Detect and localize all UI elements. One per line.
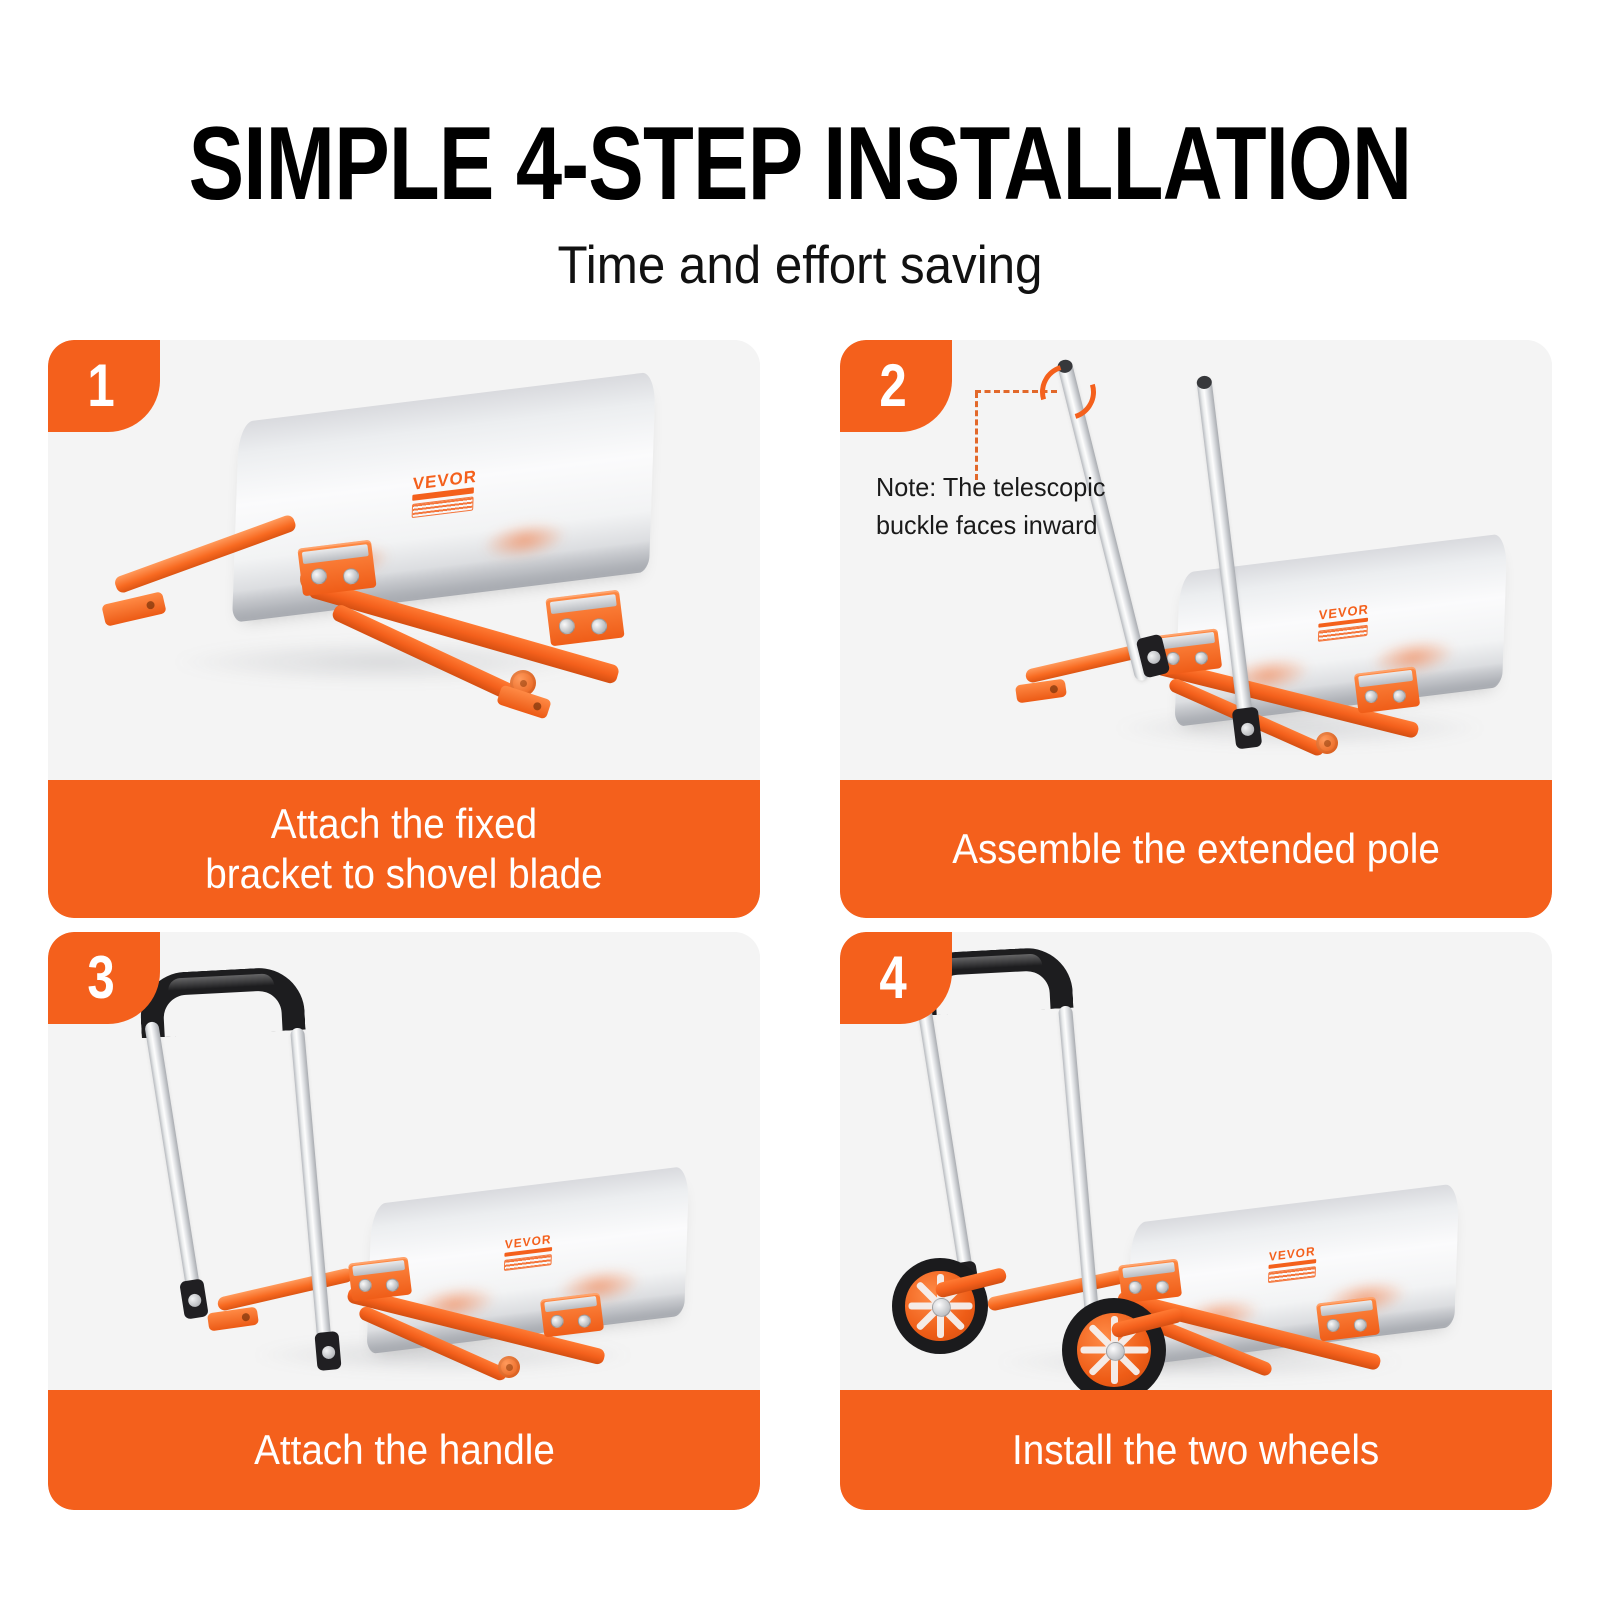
shovel-blade: VEVOR bbox=[232, 371, 656, 621]
clamp-bolt bbox=[577, 1314, 591, 1328]
bracket-clamp-right bbox=[1316, 1296, 1380, 1341]
bracket-clamp-right bbox=[1354, 666, 1420, 713]
bracket-clamp-right bbox=[540, 1292, 604, 1337]
step-badge-1: 1 bbox=[48, 340, 160, 432]
pole-joint-right bbox=[1232, 707, 1263, 750]
step-4-illustration: VEVOR bbox=[840, 932, 1552, 1390]
pole-joint-right bbox=[314, 1331, 341, 1371]
wheel-left bbox=[892, 1258, 988, 1354]
bracket-left-foot bbox=[207, 1307, 259, 1332]
bracket-left-arm bbox=[216, 1267, 354, 1312]
vevor-logo: VEVOR bbox=[1318, 602, 1369, 641]
clamp-bolt bbox=[1353, 1318, 1367, 1332]
caption-line-1: Attach the fixed bbox=[205, 799, 602, 849]
step-2-illustration: VEVOR bbox=[840, 340, 1552, 780]
step-number: 4 bbox=[850, 948, 937, 1008]
wheel-hub bbox=[1106, 1342, 1125, 1361]
step-1-caption: Attach the fixed bracket to shovel blade bbox=[48, 780, 760, 918]
bracket-clamp-left bbox=[1118, 1258, 1182, 1303]
step-badge-2: 2 bbox=[840, 340, 952, 432]
installation-infographic: SIMPLE 4-STEP INSTALLATION Time and effo… bbox=[0, 0, 1600, 1600]
clamp-plate bbox=[352, 1260, 406, 1276]
pole-end-cap bbox=[1196, 375, 1212, 390]
blade-with-poles-art: VEVOR bbox=[840, 340, 1552, 780]
clamp-bolt bbox=[590, 617, 608, 635]
bracket-lower-pivot bbox=[1316, 732, 1338, 754]
step-badge-4: 4 bbox=[840, 932, 952, 1024]
clamp-bolt bbox=[358, 1278, 372, 1292]
shovel-blade-with-bracket-art: VEVOR bbox=[48, 340, 760, 780]
clamp-plate bbox=[1320, 1300, 1374, 1316]
clamp-bolt bbox=[310, 567, 328, 585]
page-title: SIMPLE 4-STEP INSTALLATION bbox=[160, 112, 1440, 216]
step-3-illustration: VEVOR bbox=[48, 932, 760, 1390]
shovel-blade: VEVOR bbox=[367, 1166, 690, 1353]
page-subtitle: Time and effort saving bbox=[56, 238, 1544, 294]
vevor-logo: VEVOR bbox=[1268, 1245, 1317, 1283]
step-1-illustration: VEVOR bbox=[48, 340, 760, 780]
step-card-1: VEVOR bbox=[48, 340, 760, 918]
caption-line-2: bracket to shovel blade bbox=[205, 849, 602, 899]
bracket-clamp-left bbox=[348, 1256, 412, 1301]
bracket-clamp-left bbox=[297, 540, 376, 597]
handle-grip bbox=[138, 966, 305, 1038]
shovel-with-handle-art: VEVOR bbox=[48, 932, 760, 1390]
bracket-left-foot bbox=[101, 591, 166, 626]
handle-pole-left bbox=[916, 999, 976, 1294]
step-card-3: VEVOR bbox=[48, 932, 760, 1510]
step-number: 2 bbox=[850, 356, 937, 416]
note-line-1: Note: The telescopic bbox=[876, 468, 1167, 506]
clamp-bolt bbox=[1364, 689, 1378, 703]
step-number: 3 bbox=[58, 948, 145, 1008]
bracket-clamp-right bbox=[545, 590, 624, 647]
clamp-bolt bbox=[550, 1314, 564, 1328]
step-3-caption: Attach the handle bbox=[48, 1390, 760, 1510]
vevor-logo: VEVOR bbox=[412, 468, 475, 518]
caption-line-1: Assemble the extended pole bbox=[952, 824, 1440, 874]
wheel-hub bbox=[932, 1298, 951, 1317]
handle-pole-right bbox=[290, 1027, 332, 1349]
header: SIMPLE 4-STEP INSTALLATION Time and effo… bbox=[0, 0, 1600, 294]
step-badge-3: 3 bbox=[48, 932, 160, 1024]
clamp-bolt bbox=[1392, 689, 1406, 703]
clamp-plate bbox=[1160, 632, 1215, 649]
clamp-bolt bbox=[385, 1278, 399, 1292]
clamp-bolt bbox=[1128, 1280, 1142, 1294]
bracket-left-foot bbox=[1015, 679, 1067, 704]
complete-snow-shovel-art: VEVOR bbox=[840, 932, 1552, 1390]
caption-line-1: Install the two wheels bbox=[1012, 1425, 1379, 1475]
callout-vertical-dashed-line bbox=[975, 392, 978, 480]
clamp-plate bbox=[1358, 670, 1413, 687]
step-card-4: VEVOR bbox=[840, 932, 1552, 1510]
clamp-bolt bbox=[1326, 1318, 1340, 1332]
handle-pole-left bbox=[144, 1021, 204, 1312]
clamp-bolt bbox=[342, 567, 360, 585]
step-4-caption: Install the two wheels bbox=[840, 1390, 1552, 1510]
bracket-lower-pivot bbox=[498, 1356, 520, 1378]
clamp-bolt bbox=[1155, 1280, 1169, 1294]
clamp-bolt bbox=[558, 617, 576, 635]
note-line-2: buckle faces inward bbox=[876, 506, 1167, 544]
clamp-plate bbox=[302, 544, 368, 564]
clamp-bolt bbox=[1194, 651, 1208, 665]
vevor-logo: VEVOR bbox=[504, 1233, 553, 1271]
caption-line-1: Attach the handle bbox=[254, 1425, 555, 1475]
step-card-2: VEVOR bbox=[840, 340, 1552, 918]
clamp-plate bbox=[1122, 1262, 1176, 1278]
step-2-caption: Assemble the extended pole bbox=[840, 780, 1552, 918]
telescopic-note: Note: The telescopic buckle faces inward bbox=[876, 468, 1167, 544]
clamp-plate bbox=[544, 1296, 598, 1312]
step-number: 1 bbox=[58, 356, 145, 416]
pole-joint-left bbox=[179, 1278, 209, 1319]
clamp-plate bbox=[550, 594, 616, 614]
